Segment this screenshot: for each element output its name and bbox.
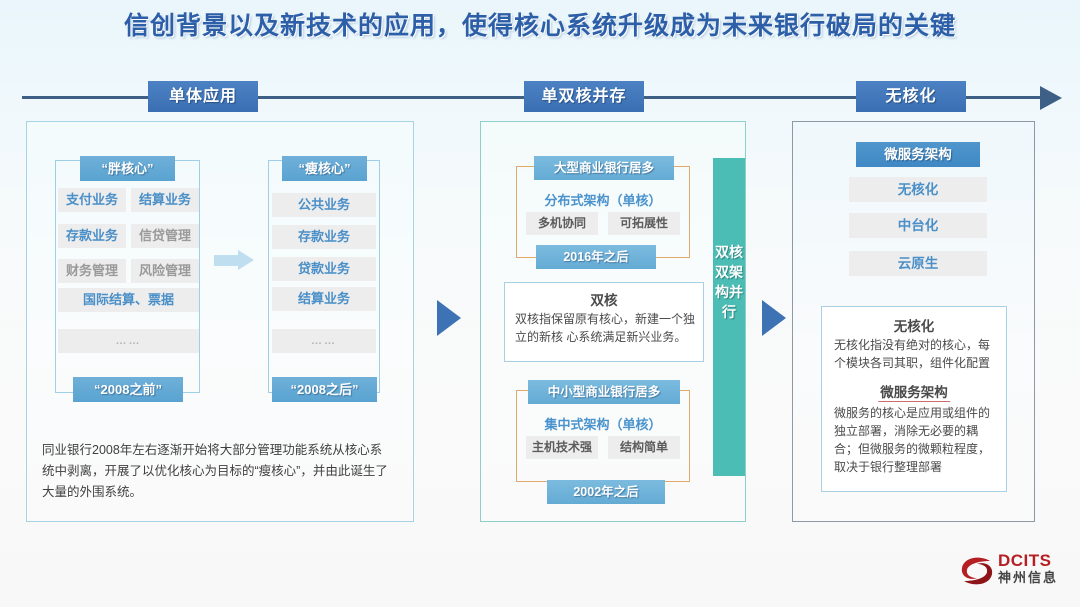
logo-text: DCITS 神州信息: [998, 552, 1058, 586]
thin-core-tile-0[interactable]: 公共业务: [272, 193, 376, 217]
thin-core-tile-3[interactable]: 结算业务: [272, 287, 376, 311]
timeline-stage-0[interactable]: 单体应用: [148, 81, 258, 112]
fat-core-tile-ellipsis: ……: [58, 329, 199, 353]
dcits-swirl-icon: [960, 555, 994, 587]
thin-core-tile-1[interactable]: 存款业务: [272, 225, 376, 249]
fat-core-tile-5[interactable]: 风险管理: [131, 259, 199, 283]
coreless-body-1: 无核化指没有绝对的核心，每个模块各司其职，组件化配置: [834, 336, 998, 372]
logo-en: DCITS: [998, 552, 1058, 570]
thin-core-tile-ellipsis: ……: [272, 329, 376, 353]
small-bank-tile-1[interactable]: 结构简单: [608, 436, 680, 459]
coreless-description-box: 无核化 无核化指没有绝对的核心，每个模块各司其职，组件化配置 微服务架构 微服务…: [821, 306, 1007, 492]
coreless-body-2: 微服务的核心是应用或组件的独立部署，消除无必要的耦合；但微服务的微颗粒程度，取决…: [834, 404, 998, 476]
coreless-tile-2[interactable]: 云原生: [849, 251, 987, 276]
fat-core-tile-0[interactable]: 支付业务: [58, 188, 126, 212]
timeline: 单体应用 单双核并存 无核化: [0, 78, 1080, 116]
small-bank-tile-0[interactable]: 主机技术强: [526, 436, 598, 459]
coreless-tile-0[interactable]: 无核化: [849, 177, 987, 202]
panel-arrow-2-icon: [762, 300, 786, 336]
logo-cn: 神州信息: [998, 570, 1058, 586]
fat-core-tile-4[interactable]: 财务管理: [58, 259, 126, 283]
timeline-stage-2[interactable]: 无核化: [856, 81, 966, 112]
large-bank-tile-1[interactable]: 可拓展性: [608, 212, 680, 235]
panel-arrow-1-icon: [437, 300, 461, 336]
thin-core-tile-2[interactable]: 贷款业务: [272, 257, 376, 281]
centralized-arch-subtitle: 集中式架构（单核）: [516, 414, 690, 433]
vertical-dual-core-bar: 双核双架构并行: [713, 158, 745, 476]
page-title: 信创背景以及新技术的应用，使得核心系统升级成为未来银行破局的关键: [0, 6, 1080, 42]
fat-core-cap-bottom: “2008之前”: [73, 377, 183, 402]
large-bank-cap: 大型商业银行居多: [534, 156, 674, 180]
transition-arrow-icon: [214, 250, 254, 270]
fat-core-tile-3[interactable]: 信贷管理: [131, 224, 199, 248]
large-bank-year-cap: 2016年之后: [536, 245, 656, 269]
fat-core-tile-2[interactable]: 存款业务: [58, 224, 126, 248]
column1-note: 同业银行2008年左右逐渐开始将大部分管理功能系统从核心系统中剥离，开展了以优化…: [42, 440, 394, 503]
timeline-right-arrow-icon: [1040, 86, 1062, 110]
coreless-title-1: 无核化: [822, 315, 1006, 335]
fat-core-tile-wide[interactable]: 国际结算、票据: [58, 288, 199, 312]
fat-core-cap-top: “胖核心”: [80, 156, 175, 181]
thin-core-cap-bottom: “2008之后”: [272, 377, 377, 402]
coreless-tile-1[interactable]: 中台化: [849, 213, 987, 238]
timeline-stage-1[interactable]: 单双核并存: [524, 81, 644, 112]
distributed-arch-subtitle: 分布式架构（单核）: [516, 190, 690, 209]
company-logo: DCITS 神州信息: [960, 551, 1066, 593]
large-bank-tile-0[interactable]: 多机协同: [526, 212, 598, 235]
dual-core-title: 双核: [505, 289, 703, 309]
dual-core-body: 双核指保留原有核心，新建一个独立的新核 心系统满足新兴业务。: [515, 310, 697, 346]
small-bank-year-cap: 2002年之后: [547, 480, 665, 504]
coreless-title-2: 微服务架构: [878, 381, 950, 402]
small-bank-cap: 中小型商业银行居多: [528, 380, 680, 404]
microservice-cap: 微服务架构: [856, 142, 980, 167]
fat-core-tile-1[interactable]: 结算业务: [131, 188, 199, 212]
dual-core-description-box: 双核 双核指保留原有核心，新建一个独立的新核 心系统满足新兴业务。: [504, 282, 704, 362]
thin-core-cap-top: “瘦核心”: [282, 156, 367, 181]
vertical-dual-core-bar-label: 双核双架构并行: [713, 242, 745, 322]
